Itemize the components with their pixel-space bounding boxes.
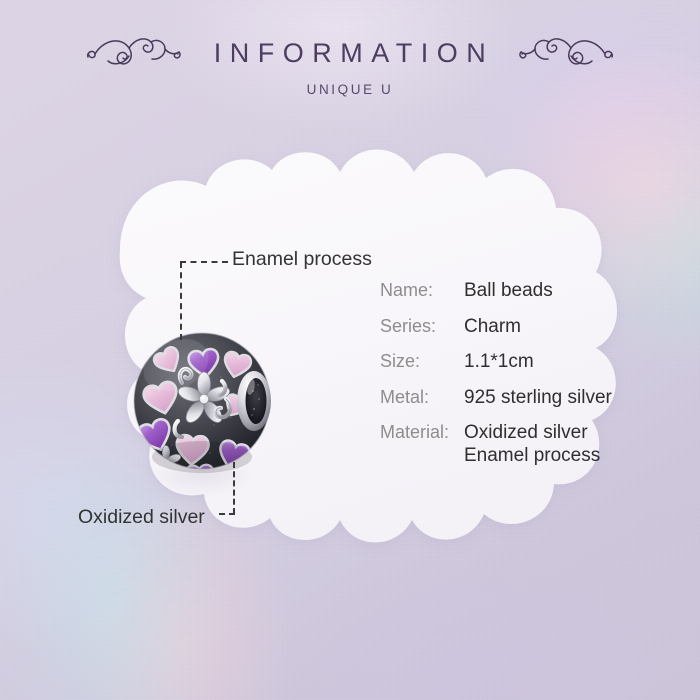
spec-row-material: Material: Oxidized silver: [380, 422, 650, 444]
spec-label-material: Material:: [380, 422, 464, 443]
spec-label-size: Size:: [380, 351, 464, 372]
leader-line-enamel-horizontal: [180, 261, 228, 263]
spec-value-metal: 925 sterling silver: [464, 387, 612, 409]
product-specs: Name: Ball beads Series: Charm Size: 1.1…: [380, 280, 650, 467]
leader-line-enamel-vertical: [180, 262, 182, 340]
leader-line-oxidized-horizontal: [219, 513, 235, 515]
spec-label-metal: Metal:: [380, 387, 464, 408]
bead-threading-hole: [237, 371, 271, 431]
spec-row-name: Name: Ball beads: [380, 280, 650, 302]
spec-label-series: Series:: [380, 316, 464, 337]
spec-value-size: 1.1*1cm: [464, 351, 534, 373]
annotation-label-enamel: Enamel process: [232, 248, 372, 271]
spec-row-size: Size: 1.1*1cm: [380, 351, 650, 373]
silver-charm-bead-icon: [126, 325, 278, 477]
spec-value-material: Oxidized silver: [464, 422, 588, 444]
spec-row-series: Series: Charm: [380, 316, 650, 338]
spec-label-name: Name:: [380, 280, 464, 301]
annotation-label-oxidized: Oxidized silver: [78, 506, 205, 529]
spec-value-name: Ball beads: [464, 280, 553, 302]
product-image[interactable]: [126, 325, 278, 477]
leader-line-oxidized-vertical: [233, 462, 235, 514]
card-content: Enamel process Oxidized silver Name: Bal…: [0, 0, 700, 700]
spec-value-series: Charm: [464, 316, 521, 338]
spec-value-material-line2: Enamel process: [464, 445, 650, 467]
spec-row-metal: Metal: 925 sterling silver: [380, 387, 650, 409]
